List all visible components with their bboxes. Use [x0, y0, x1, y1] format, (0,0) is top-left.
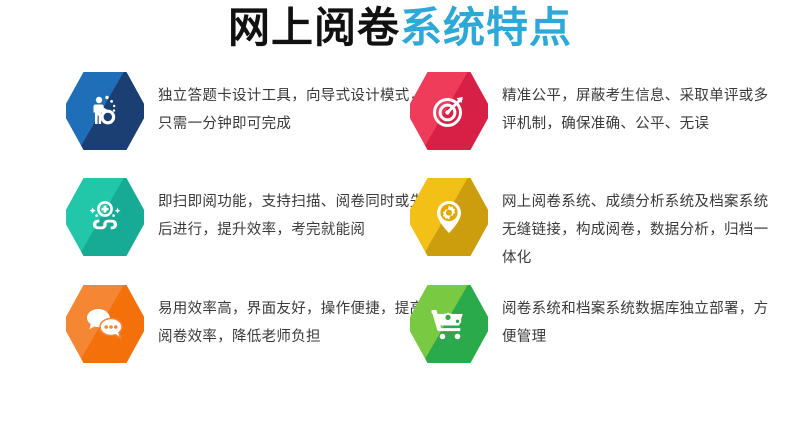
feature-caption: 独立答题卡设计工具，向导式设计模式，只需一分钟即可完成	[158, 68, 426, 138]
page-title: 网上阅卷系统特点	[0, 4, 800, 52]
target-arrow-icon	[410, 68, 488, 154]
pin-gear-icon	[410, 174, 488, 260]
person-gear-icon	[66, 68, 144, 154]
feature-caption: 易用效率高，界面友好，操作便捷，提高阅卷效率，降低老师负担	[158, 281, 426, 351]
feature-item-ease-of-use: 易用效率高，界面友好，操作便捷，提高阅卷效率，降低老师负担	[66, 281, 426, 367]
hex-badge-answer-sheet-design	[62, 72, 148, 150]
cart-gear-icon	[410, 281, 488, 367]
feature-item-scan-and-grade: 即扫即阅功能，支持扫描、阅卷同时或先后进行，提升效率，考完就能阅	[66, 174, 426, 260]
feature-caption: 网上阅卷系统、成绩分析系统及档案系统无缝链接，构成阅卷，数据分析，归档一体化	[502, 174, 770, 272]
page-title-main: 网上阅卷	[228, 4, 400, 51]
chat-bubbles-icon	[66, 281, 144, 367]
feature-caption: 精准公平，屏蔽考生信息、采取单评或多评机制，确保准确、公平、无误	[502, 68, 770, 138]
feature-item-seamless-integration: 网上阅卷系统、成绩分析系统及档案系统无缝链接，构成阅卷，数据分析，归档一体化	[410, 174, 770, 272]
hex-badge-ease-of-use	[62, 285, 148, 363]
link-plus-icon	[66, 174, 144, 260]
hex-badge-scan-and-grade	[62, 178, 148, 256]
hex-badge-fair-grading	[406, 72, 492, 150]
hex-badge-independent-database	[406, 285, 492, 363]
feature-item-fair-grading: 精准公平，屏蔽考生信息、采取单评或多评机制，确保准确、公平、无误	[410, 68, 770, 154]
feature-grid: 独立答题卡设计工具，向导式设计模式，只需一分钟即可完成 精准公平，屏蔽考生信息、…	[0, 62, 800, 382]
hex-badge-seamless-integration	[406, 178, 492, 256]
page-title-accent: 系统特点	[400, 4, 572, 51]
feature-item-independent-database: 阅卷系统和档案系统数据库独立部署，方便管理	[410, 281, 770, 367]
feature-item-answer-sheet-design: 独立答题卡设计工具，向导式设计模式，只需一分钟即可完成	[66, 68, 426, 154]
feature-caption: 阅卷系统和档案系统数据库独立部署，方便管理	[502, 281, 770, 351]
feature-caption: 即扫即阅功能，支持扫描、阅卷同时或先后进行，提升效率，考完就能阅	[158, 174, 426, 244]
